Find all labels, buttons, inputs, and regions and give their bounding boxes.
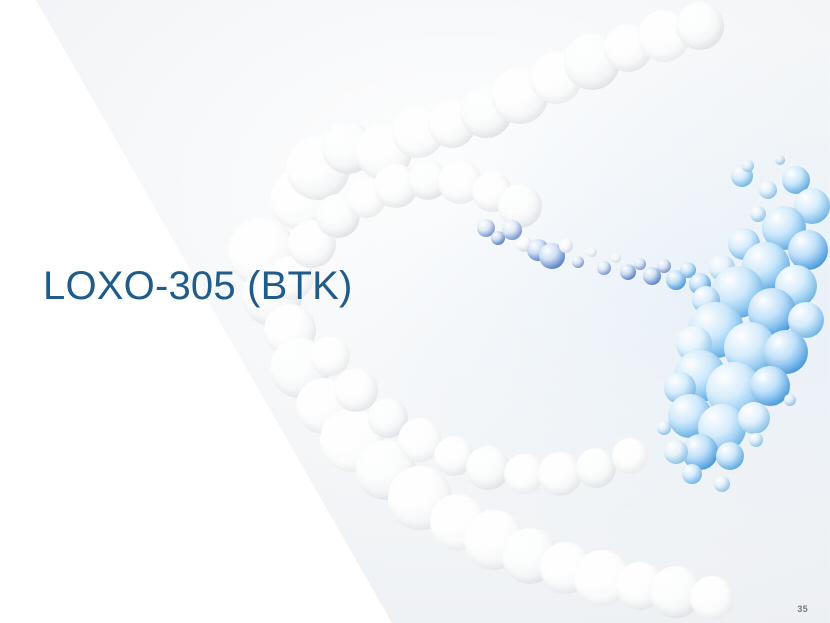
transition-bead — [657, 259, 671, 273]
blue-bead — [749, 433, 763, 447]
transition-bead — [611, 253, 621, 263]
blue-bead — [742, 160, 754, 172]
transition-bead — [572, 256, 584, 268]
helix-bead — [690, 576, 734, 620]
blue-bead — [784, 394, 796, 406]
helix-bead — [612, 438, 648, 474]
transition-bead — [597, 261, 611, 275]
helix-bead — [676, 2, 724, 50]
transition-bead — [587, 247, 597, 257]
blue-bead — [716, 442, 744, 470]
page-number: 35 — [797, 604, 808, 614]
page-title: LOXO-305 (BTK) — [43, 263, 353, 309]
blue-bead — [657, 421, 671, 435]
blue-bead — [738, 402, 770, 434]
helix-bead — [576, 448, 616, 488]
helix-bead — [538, 452, 582, 496]
blue-bead — [788, 230, 828, 270]
helix-bead — [466, 446, 510, 490]
blue-bead — [714, 476, 730, 492]
transition-bead — [559, 239, 573, 253]
blue-bead — [775, 155, 785, 165]
transition-bead — [634, 258, 646, 270]
blue-bead — [682, 464, 702, 484]
blue-bead — [759, 181, 777, 199]
blue-bead — [664, 440, 688, 464]
slide-canvas: LOXO-305 (BTK) 35 — [0, 0, 830, 623]
